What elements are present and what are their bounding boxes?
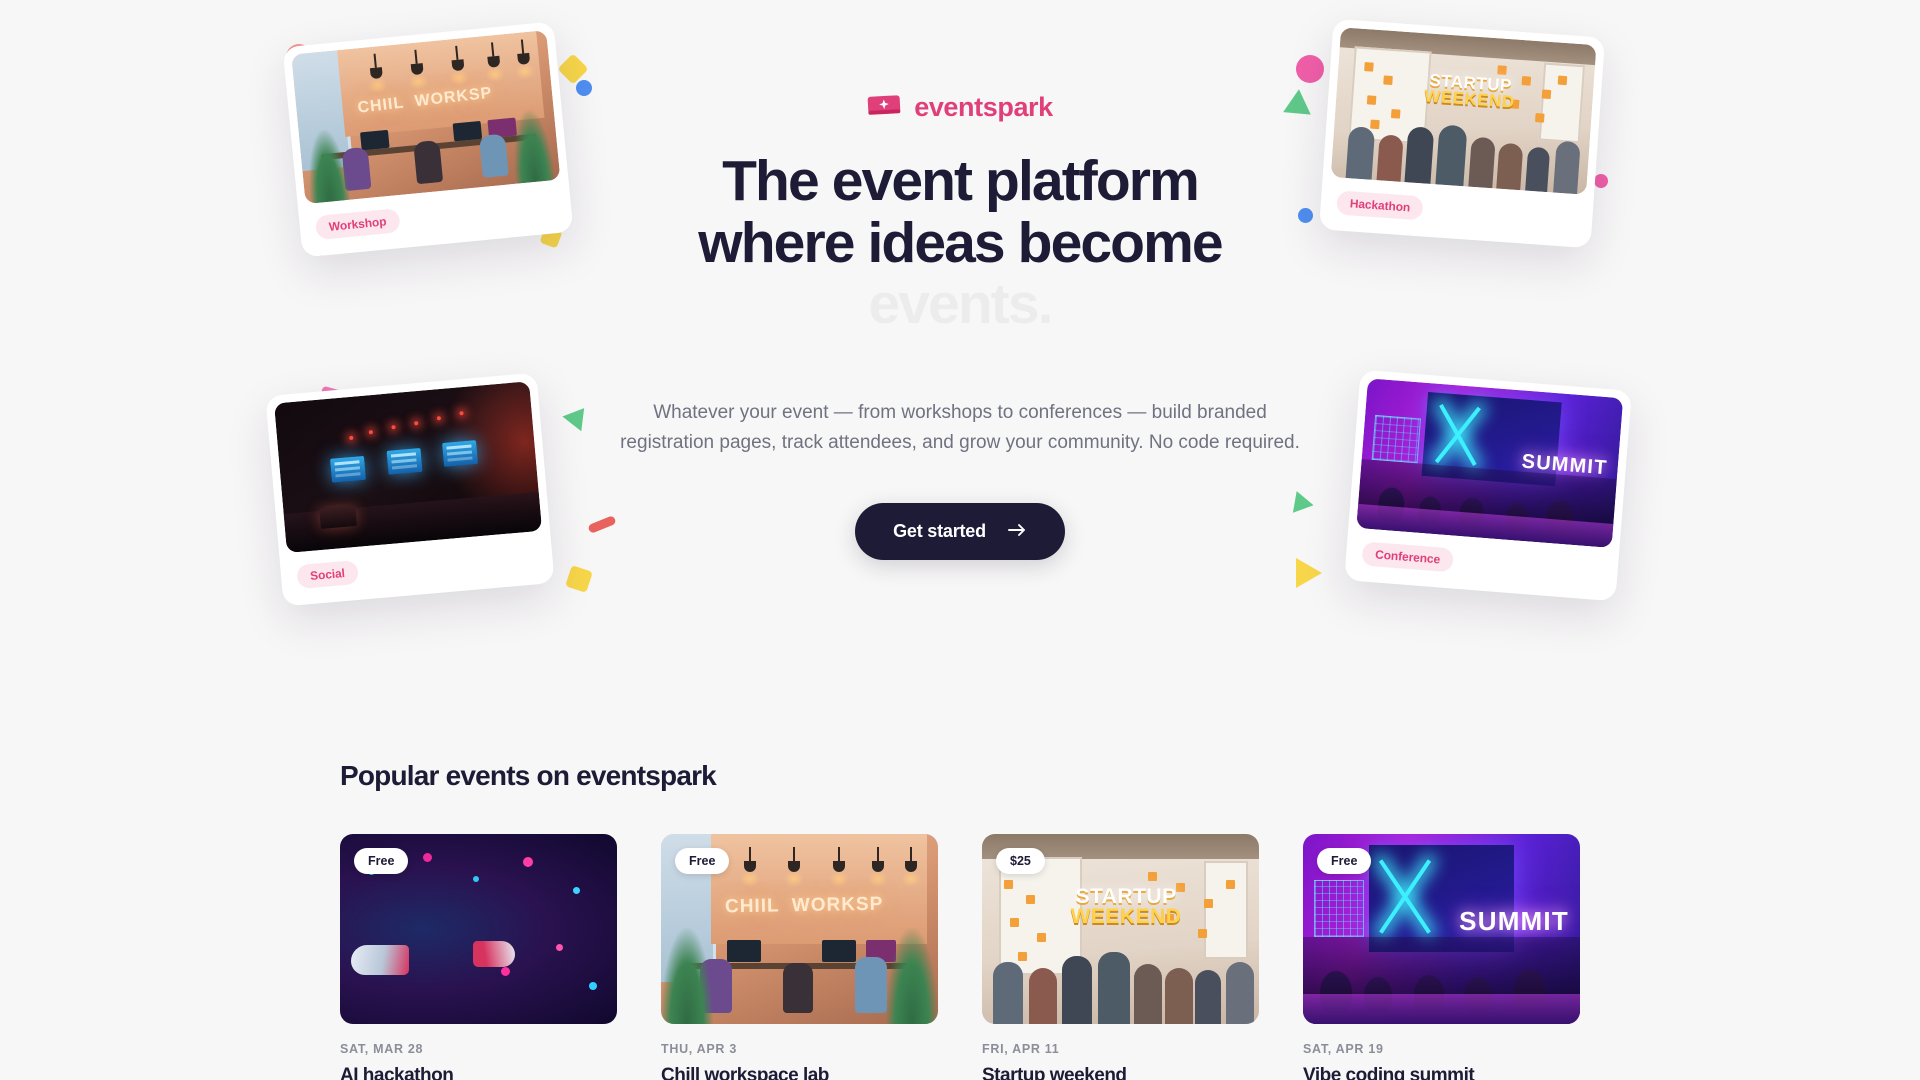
floating-card-tag: Social	[296, 560, 359, 589]
get-started-button[interactable]: Get started	[855, 503, 1065, 560]
price-badge: Free	[1317, 848, 1371, 874]
price-badge: Free	[675, 848, 729, 874]
floating-card-photo: CHIIL WORKSP	[291, 30, 560, 204]
event-title: Startup weekend	[982, 1065, 1259, 1080]
event-card[interactable]: $25	[982, 834, 1259, 1080]
event-card[interactable]: Free SAT, MAR 28	[340, 834, 617, 1080]
event-title: Chill workspace lab	[661, 1065, 938, 1080]
floating-event-card-social[interactable]: Social	[265, 373, 554, 607]
brand-name: eventspark	[914, 92, 1053, 123]
headline-line-3: events.	[868, 272, 1051, 336]
brand-logo[interactable]: eventspark	[580, 92, 1340, 123]
event-card-photo: Free SUMMIT	[1303, 834, 1580, 1024]
event-date: THU, APR 3	[661, 1042, 938, 1056]
decor-circle-pink-small	[1594, 174, 1608, 188]
floating-event-card-workshop[interactable]: CHIIL WORKSP Workshop	[283, 21, 574, 257]
floating-event-card-hackathon[interactable]: STARTUPWEEKEND Hackathon	[1319, 19, 1605, 248]
price-badge: $25	[996, 848, 1045, 874]
price-badge: Free	[354, 848, 408, 874]
decor-circle-magenta	[1296, 55, 1324, 83]
popular-events-section: Popular events on eventspark Free	[0, 760, 1920, 1080]
get-started-label: Get started	[893, 521, 986, 542]
headline-line-1: The event platform	[722, 149, 1198, 213]
event-card[interactable]: Free SUMMIT	[1303, 834, 1580, 1080]
floating-card-photo: STARTUPWEEKEND	[1331, 27, 1597, 194]
floating-event-card-conference[interactable]: SUMMIT Conference	[1344, 370, 1632, 602]
floating-card-tag: Conference	[1361, 541, 1454, 572]
hero-section: CHIIL WORKSP Workshop	[0, 0, 1920, 760]
hero-content: eventspark The event platform where idea…	[580, 92, 1340, 560]
floating-card-tag: Workshop	[315, 208, 401, 240]
event-title: Vibe coding summit	[1303, 1065, 1580, 1080]
page-title: The event platform where ideas become ev…	[580, 151, 1340, 336]
hero-subheading: Whatever your event — from workshops to …	[580, 398, 1340, 460]
event-card[interactable]: Free CHIIL WORKSP	[661, 834, 938, 1080]
decor-square-yellow-social	[565, 565, 593, 593]
arrow-right-icon	[1008, 521, 1027, 542]
event-card-photo: $25	[982, 834, 1259, 1024]
event-date: SAT, APR 19	[1303, 1042, 1580, 1056]
floating-card-photo: SUMMIT	[1356, 378, 1623, 548]
event-card-photo: Free	[340, 834, 617, 1024]
headline-line-2: where ideas become	[698, 211, 1221, 275]
floating-card-tag: Hackathon	[1336, 190, 1424, 220]
cta-container: Get started	[580, 503, 1340, 560]
decor-triangle-yellow-conf	[1296, 558, 1322, 588]
event-card-photo: Free CHIIL WORKSP	[661, 834, 938, 1024]
ticket-icon	[867, 93, 901, 122]
event-title: AI hackathon	[340, 1065, 617, 1080]
floating-card-photo	[274, 381, 542, 553]
event-card-grid: Free SAT, MAR 28	[340, 834, 1580, 1080]
section-title: Popular events on eventspark	[340, 760, 1580, 792]
event-date: FRI, APR 11	[982, 1042, 1259, 1056]
event-date: SAT, MAR 28	[340, 1042, 617, 1056]
